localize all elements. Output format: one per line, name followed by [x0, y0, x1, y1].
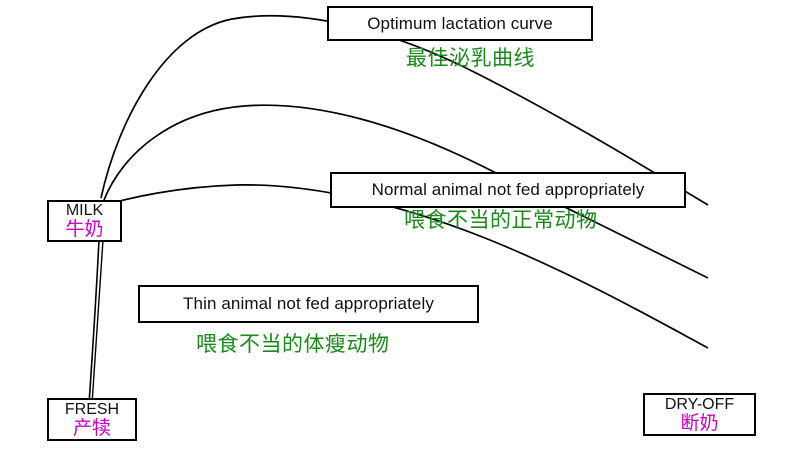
label-box-optimum-lactation-curve[interactable]: Optimum lactation curve	[327, 6, 593, 41]
axis-label-fresh[interactable]: FRESH 产犊	[47, 398, 137, 441]
axis-label-fresh-cn: 产犊	[73, 419, 111, 438]
caption-normal-cn: 喂食不当的正常动物	[404, 204, 598, 234]
axis-label-milk-cn: 牛奶	[65, 220, 103, 239]
axis-label-dry-off-en: DRY-OFF	[665, 397, 734, 413]
diagram-canvas: Optimum lactation curve 最佳泌乳曲线 Normal an…	[0, 0, 797, 452]
caption-optimum-cn: 最佳泌乳曲线	[406, 42, 535, 72]
axis-label-dry-off[interactable]: DRY-OFF 断奶	[643, 393, 756, 436]
label-box-normal-animal[interactable]: Normal animal not fed appropriately	[330, 172, 686, 208]
axis-label-dry-off-cn: 断奶	[680, 414, 718, 433]
axis-label-milk[interactable]: MILK 牛奶	[47, 200, 122, 242]
label-thin-en: Thin animal not fed appropriately	[183, 294, 434, 314]
label-normal-en: Normal animal not fed appropriately	[372, 180, 645, 200]
axis-label-fresh-en: FRESH	[65, 402, 119, 418]
axis-label-milk-en: MILK	[66, 203, 103, 219]
label-box-thin-animal[interactable]: Thin animal not fed appropriately	[138, 285, 479, 323]
caption-thin-cn: 喂食不当的体瘦动物	[196, 328, 390, 358]
label-optimum-en: Optimum lactation curve	[367, 14, 553, 34]
